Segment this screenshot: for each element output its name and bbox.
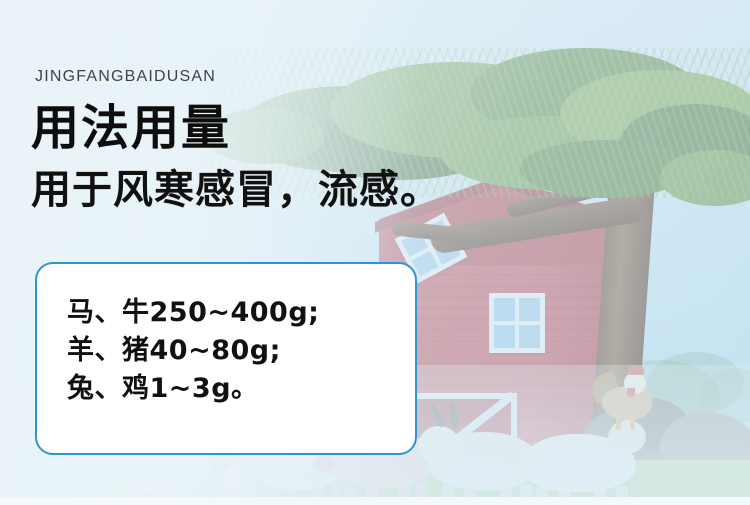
bottom-edge-strip [0,497,750,505]
dosage-line: 羊、猪40~80g; [67,332,399,370]
pinyin-kicker: JINGFANGBAIDUSAN [35,68,216,86]
poster-canvas: JINGFANGBAIDUSAN 用法用量 用于风寒感冒，流感。 马、牛250~… [0,0,750,505]
rooster-comb-icon [628,365,644,375]
page-title: 用法用量 [31,104,231,152]
dosage-line: 马、牛250~400g; [67,294,399,332]
rooster-wattle-icon [627,388,635,397]
page-subtitle: 用于风寒感冒，流感。 [31,170,441,210]
barn-window-icon [489,293,545,353]
goat-head [418,426,460,466]
dosage-line: 兔、鸡1~3g。 [67,370,399,408]
dosage-card: 马、牛250~400g; 羊、猪40~80g; 兔、鸡1~3g。 [35,262,417,455]
goat-horn-icon [448,404,459,429]
rooster-illustration [596,372,658,434]
dosage-card-content: 马、牛250~400g; 羊、猪40~80g; 兔、鸡1~3g。 [67,294,399,408]
goat-horn-icon [429,404,446,429]
